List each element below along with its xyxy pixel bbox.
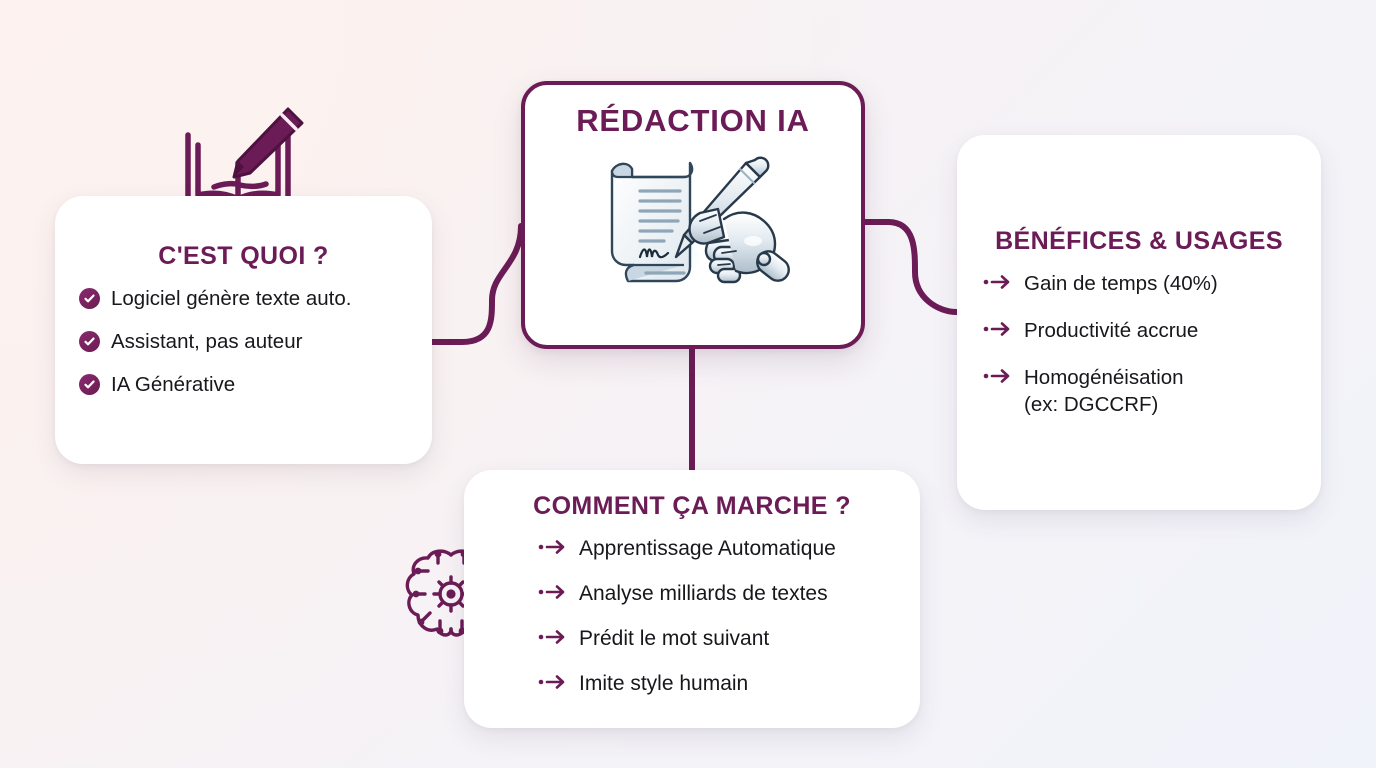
list-item-label: IA Générative [111,371,235,398]
list-item-label: Gain de temps (40%) [1024,270,1218,297]
dot-arrow-icon [538,674,568,690]
check-circle-icon [79,374,100,395]
dot-arrow-icon [983,321,1013,337]
list-item-label: Assistant, pas auteur [111,328,302,355]
list-item-label: Productivité accrue [1024,317,1198,344]
list-item-label: Imite style humain [579,670,748,698]
robot-hand-writing-document-illustration [588,147,798,307]
list-item-label: Analyse milliards de textes [579,580,828,608]
connector-right [865,222,957,312]
dot-arrow-icon [538,539,568,555]
list-item: Prédit le mot suivant [538,625,898,653]
card-how-title: COMMENT ÇA MARCHE ? [486,492,898,521]
card-redaction-ia[interactable]: RÉDACTION IA [521,81,865,349]
list-item: Gain de temps (40%) [983,270,1295,297]
dot-arrow-icon [983,368,1013,384]
card-benefits-and-uses[interactable]: BÉNÉFICES & USAGES Gain de temps (40%) P… [957,135,1321,510]
card-how-it-works[interactable]: COMMENT ÇA MARCHE ? Apprentissage Automa… [464,470,920,728]
list-item: Assistant, pas auteur [79,328,408,355]
dot-arrow-icon [983,274,1013,290]
card-what-list: Logiciel génère texte auto. Assistant, p… [79,285,408,399]
card-benefits-title: BÉNÉFICES & USAGES [983,227,1295,256]
list-item: Analyse milliards de textes [538,580,898,608]
list-item: Apprentissage Automatique [538,535,898,563]
page-title: RÉDACTION IA [576,103,810,139]
list-item: Homogénéisation (ex: DGCCRF) [983,364,1295,417]
infographic-canvas: C'EST QUOI ? Logiciel génère texte auto.… [0,0,1376,768]
list-item-label: Homogénéisation (ex: DGCCRF) [1024,364,1184,417]
list-item-label: Logiciel génère texte auto. [111,285,351,312]
card-how-list: Apprentissage Automatique Analyse millia… [486,535,898,698]
list-item: Productivité accrue [983,317,1295,344]
connector-left [432,226,521,342]
dot-arrow-icon [538,584,568,600]
dot-arrow-icon [538,629,568,645]
card-what-title: C'EST QUOI ? [79,242,408,271]
list-item: Logiciel génère texte auto. [79,285,408,312]
check-circle-icon [79,331,100,352]
card-benefits-list: Gain de temps (40%) Productivité accrue … [983,270,1295,418]
list-item: IA Générative [79,371,408,398]
list-item: Imite style humain [538,670,898,698]
list-item-label: Apprentissage Automatique [579,535,836,563]
card-what-is-it[interactable]: C'EST QUOI ? Logiciel génère texte auto.… [55,196,432,464]
list-item-label: Prédit le mot suivant [579,625,769,653]
pen-glyph [234,109,302,177]
check-circle-icon [79,288,100,309]
